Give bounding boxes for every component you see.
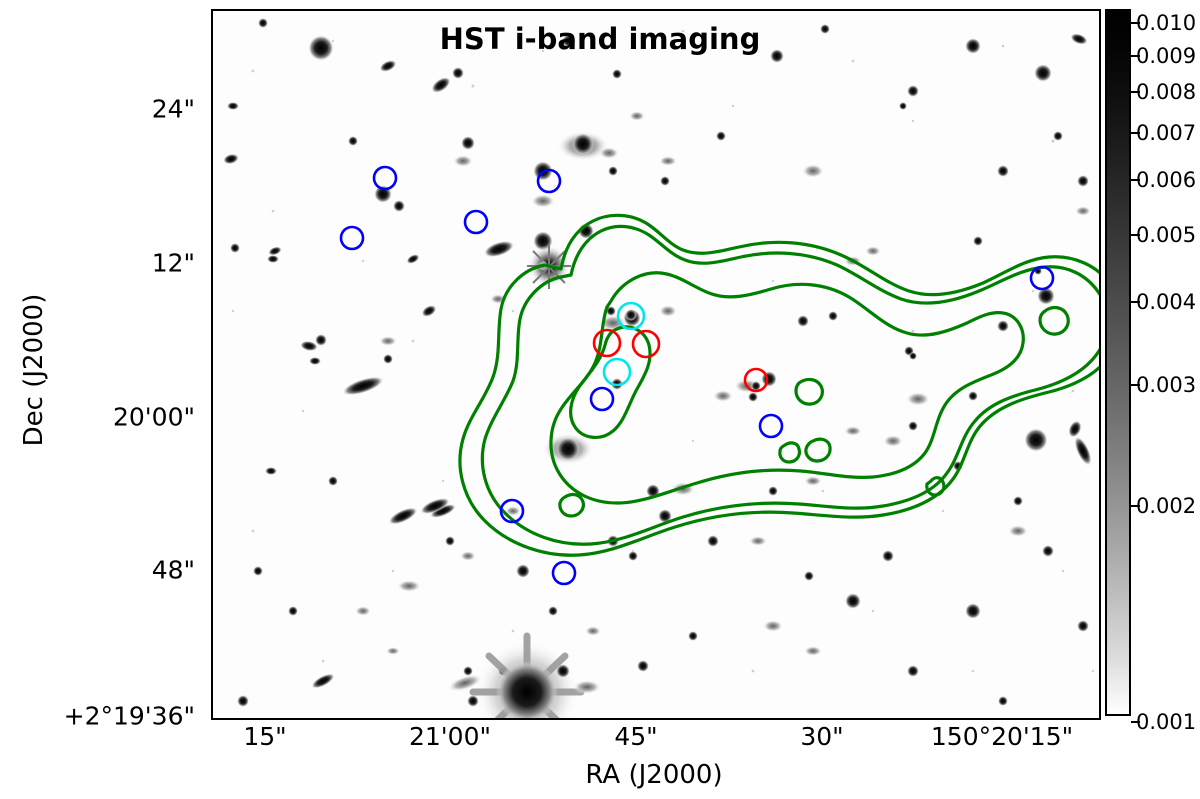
blue-source-circle[interactable] <box>538 170 560 192</box>
colorbar-tick-label: 0.002 <box>1136 494 1196 518</box>
blue-source-circle[interactable] <box>591 388 613 410</box>
colorbar-tick-label: 0.010 <box>1136 11 1196 35</box>
y-tick-label: +2°19'36" <box>64 702 195 731</box>
x-tick-label: 21'00" <box>409 722 491 751</box>
colorbar-tick-label: 0.009 <box>1136 44 1196 68</box>
colorbar[interactable] <box>1105 9 1131 716</box>
red-source-circle[interactable] <box>594 330 620 356</box>
blue-source-circle[interactable] <box>553 562 575 584</box>
y-tick-label: 24" <box>152 95 195 124</box>
red-source-circle[interactable] <box>633 331 659 357</box>
blue-source-circle[interactable] <box>1031 267 1053 289</box>
cyan-source-circle[interactable] <box>604 359 630 385</box>
x-tick-label: 15" <box>243 722 286 751</box>
colorbar-tick-label: 0.008 <box>1136 80 1196 104</box>
sky-image-panel[interactable] <box>211 9 1101 720</box>
x-tick-label: 150°20'15" <box>931 722 1073 751</box>
y-tick-label: 48" <box>152 556 195 585</box>
y-tick-label: 20'00" <box>113 403 195 432</box>
colorbar-tick-label: 0.004 <box>1136 290 1196 314</box>
red-source-circle[interactable] <box>745 369 767 391</box>
blue-source-circle[interactable] <box>760 415 782 437</box>
blue-source-circle[interactable] <box>501 500 523 522</box>
y-tick-label: 12" <box>152 249 195 278</box>
colorbar-tick-label: 0.003 <box>1136 373 1196 397</box>
marker-circle-layer <box>213 11 1099 718</box>
colorbar-tick-label: 0.007 <box>1136 121 1196 145</box>
x-axis-label: RA (J2000) <box>211 760 1097 790</box>
colorbar-tick-label: 0.001 <box>1136 710 1196 734</box>
cyan-source-circle[interactable] <box>618 303 644 329</box>
y-axis-label: Dec (J2000) <box>19 240 49 500</box>
x-tick-label: 30" <box>800 722 843 751</box>
blue-source-circle[interactable] <box>374 167 396 189</box>
colorbar-tick-label: 0.005 <box>1136 223 1196 247</box>
x-tick-label: 45" <box>614 722 657 751</box>
blue-source-circle[interactable] <box>465 211 487 233</box>
colorbar-tick-label: 0.006 <box>1136 168 1196 192</box>
blue-source-circle[interactable] <box>341 227 363 249</box>
figure-canvas: HST i-band imaging RA (J2000) Dec (J2000… <box>0 0 1200 799</box>
